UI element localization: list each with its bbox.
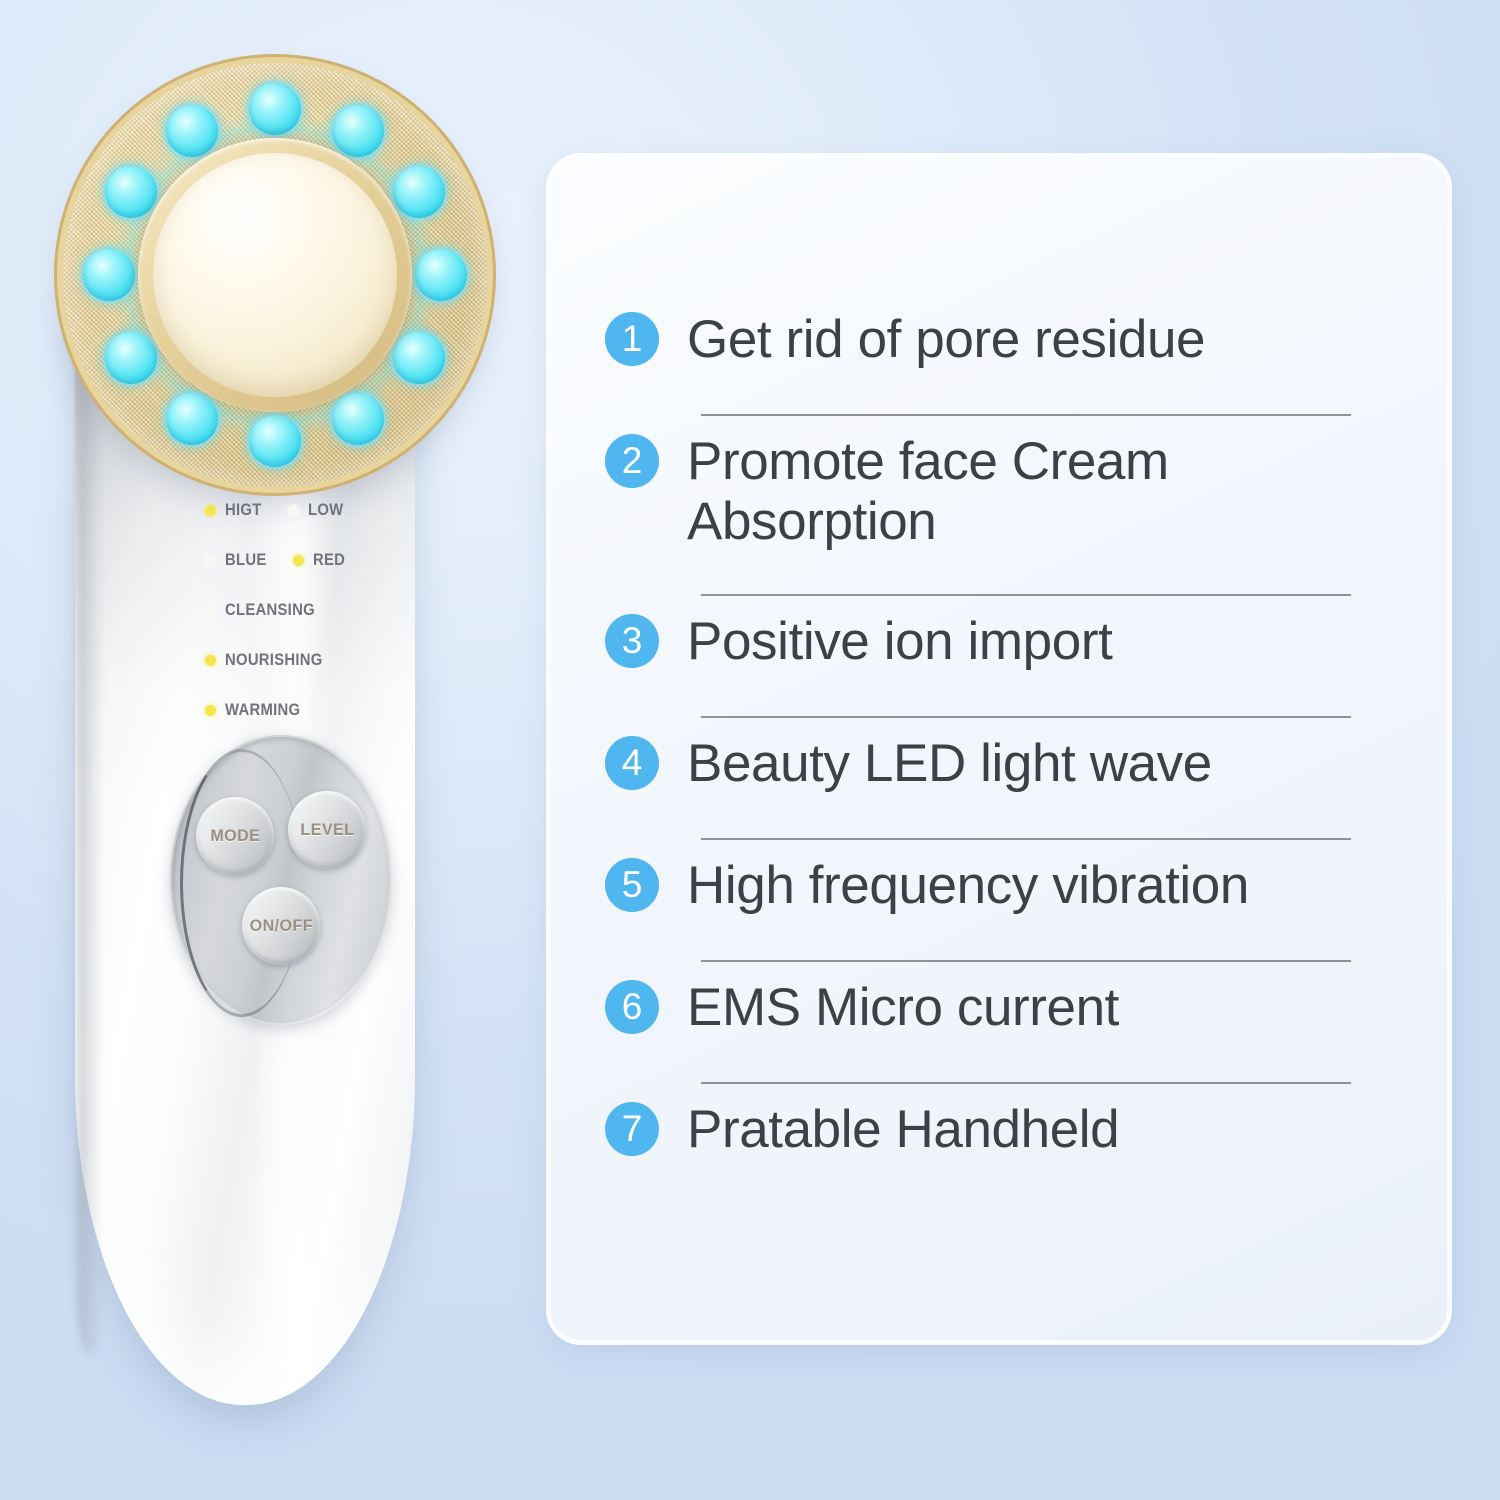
feature-number-badge: 5 bbox=[605, 858, 659, 912]
level-button-label: LEVEL bbox=[300, 820, 354, 840]
feature-item: 3Positive ion import bbox=[551, 610, 1447, 702]
indicator-label: BLUE bbox=[225, 551, 267, 570]
indicator-led-icon bbox=[205, 505, 216, 516]
feature-divider bbox=[701, 716, 1351, 718]
feature-divider bbox=[701, 838, 1351, 840]
product-device-image: HIGTLOWBLUEREDCLEANSINGNOURISHINGWARMING… bbox=[55, 55, 515, 1435]
feature-divider bbox=[701, 414, 1351, 416]
feature-number-badge: 3 bbox=[605, 614, 659, 668]
indicator-label: RED bbox=[313, 551, 345, 570]
indicator-higt: HIGT bbox=[205, 501, 266, 520]
indicator-led-icon bbox=[205, 555, 216, 566]
feature-item: 4Beauty LED light wave bbox=[551, 732, 1447, 824]
feature-item: 5High frequency vibration bbox=[551, 854, 1447, 946]
feature-list: 1Get rid of pore residue2Promote face Cr… bbox=[551, 158, 1447, 1340]
indicator-label: WARMING bbox=[225, 701, 300, 720]
feature-text: Promote face Cream Absorption bbox=[687, 430, 1413, 552]
led-light bbox=[393, 332, 445, 384]
indicator-cleansing: CLEANSING bbox=[205, 601, 325, 620]
indicator-led-icon bbox=[205, 655, 216, 666]
control-panel: MODE LEVEL ON/OFF bbox=[170, 735, 392, 1025]
feature-text: Positive ion import bbox=[687, 610, 1112, 672]
feature-list-card: 1Get rid of pore residue2Promote face Cr… bbox=[551, 158, 1447, 1340]
mode-button[interactable]: MODE bbox=[196, 797, 274, 875]
mode-button-label: MODE bbox=[210, 826, 260, 846]
feature-item: 2Promote face Cream Absorption bbox=[551, 430, 1447, 580]
feature-divider bbox=[701, 1082, 1351, 1084]
indicator-red: RED bbox=[293, 551, 349, 570]
led-light bbox=[249, 415, 301, 467]
feature-item: 1Get rid of pore residue bbox=[551, 308, 1447, 400]
feature-number-badge: 4 bbox=[605, 736, 659, 790]
led-light bbox=[332, 393, 384, 445]
indicator-label: LOW bbox=[308, 501, 343, 520]
feature-divider bbox=[701, 594, 1351, 596]
indicator-led-icon bbox=[288, 505, 299, 516]
indicator-low: LOW bbox=[288, 501, 347, 520]
indicator-row: CLEANSING bbox=[205, 585, 435, 635]
indicator-led-icon bbox=[205, 705, 216, 716]
infographic-canvas: HIGTLOWBLUEREDCLEANSINGNOURISHINGWARMING… bbox=[0, 0, 1500, 1500]
indicator-row: HIGTLOW bbox=[205, 485, 435, 535]
led-light bbox=[166, 393, 218, 445]
feature-item: 6EMS Micro current bbox=[551, 976, 1447, 1068]
power-button-label: ON/OFF bbox=[249, 916, 312, 936]
feature-text: Get rid of pore residue bbox=[687, 308, 1205, 370]
panel-arc-highlight bbox=[180, 749, 303, 1017]
indicator-label: CLEANSING bbox=[225, 601, 315, 620]
feature-number-badge: 6 bbox=[605, 980, 659, 1034]
led-light bbox=[415, 249, 467, 301]
feature-text: Beauty LED light wave bbox=[687, 732, 1212, 794]
indicator-row: BLUERED bbox=[205, 535, 435, 585]
indicator-led-icon bbox=[205, 605, 216, 616]
indicator-warming: WARMING bbox=[205, 701, 309, 720]
led-light bbox=[393, 166, 445, 218]
indicator-label: NOURISHING bbox=[225, 651, 323, 670]
indicator-row: NOURISHING bbox=[205, 635, 435, 685]
led-light bbox=[332, 105, 384, 157]
feature-text: High frequency vibration bbox=[687, 854, 1249, 916]
feature-number-badge: 7 bbox=[605, 1102, 659, 1156]
led-light bbox=[249, 83, 301, 135]
level-button[interactable]: LEVEL bbox=[288, 791, 366, 869]
head-treatment-plate bbox=[153, 153, 397, 397]
indicator-row: WARMING bbox=[205, 685, 435, 735]
led-light bbox=[166, 105, 218, 157]
indicator-blue: BLUE bbox=[205, 551, 271, 570]
feature-item: 7Pratable Handheld bbox=[551, 1098, 1447, 1190]
indicator-led-icon bbox=[293, 555, 304, 566]
power-button[interactable]: ON/OFF bbox=[242, 887, 320, 965]
feature-divider bbox=[701, 960, 1351, 962]
indicator-nourishing: NOURISHING bbox=[205, 651, 333, 670]
device-head-gold-ring bbox=[63, 63, 487, 487]
led-light bbox=[83, 249, 135, 301]
indicator-label: HIGT bbox=[225, 501, 262, 520]
feature-number-badge: 2 bbox=[605, 434, 659, 488]
feature-number-badge: 1 bbox=[605, 312, 659, 366]
feature-text: EMS Micro current bbox=[687, 976, 1119, 1038]
led-light bbox=[105, 166, 157, 218]
status-indicator-panel: HIGTLOWBLUEREDCLEANSINGNOURISHINGWARMING bbox=[205, 485, 435, 735]
led-light bbox=[105, 332, 157, 384]
feature-text: Pratable Handheld bbox=[687, 1098, 1119, 1160]
